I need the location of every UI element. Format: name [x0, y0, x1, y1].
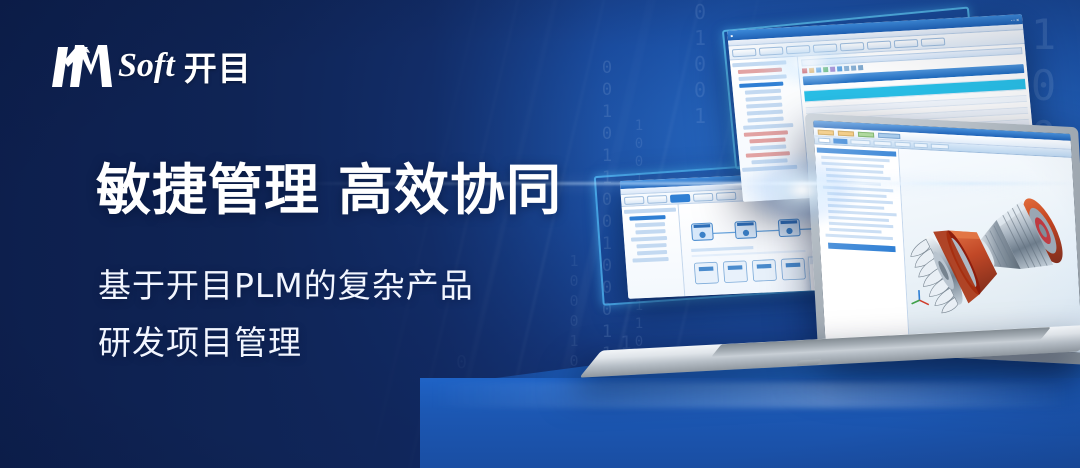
promo-banner: 1001010001100110001010101100110001011001… — [0, 0, 1080, 468]
subtitle-line-1: 基于开目PLM的复杂产品 — [98, 258, 474, 315]
brand-logo[interactable]: Soft 开目 — [46, 38, 252, 94]
km-monogram-icon — [46, 41, 120, 91]
page-subtitle: 基于开目PLM的复杂产品 研发项目管理 — [98, 258, 474, 372]
subtitle-line-2: 研发项目管理 — [98, 315, 474, 372]
logo-chinese-name: 开目 — [184, 42, 252, 90]
page-title: 敏捷管理高效协同 — [96, 161, 562, 220]
headline-part-2: 高效协同 — [338, 158, 562, 222]
logo-wordmark: Soft — [118, 47, 175, 85]
headline-part-1: 敏捷管理 — [96, 158, 320, 222]
